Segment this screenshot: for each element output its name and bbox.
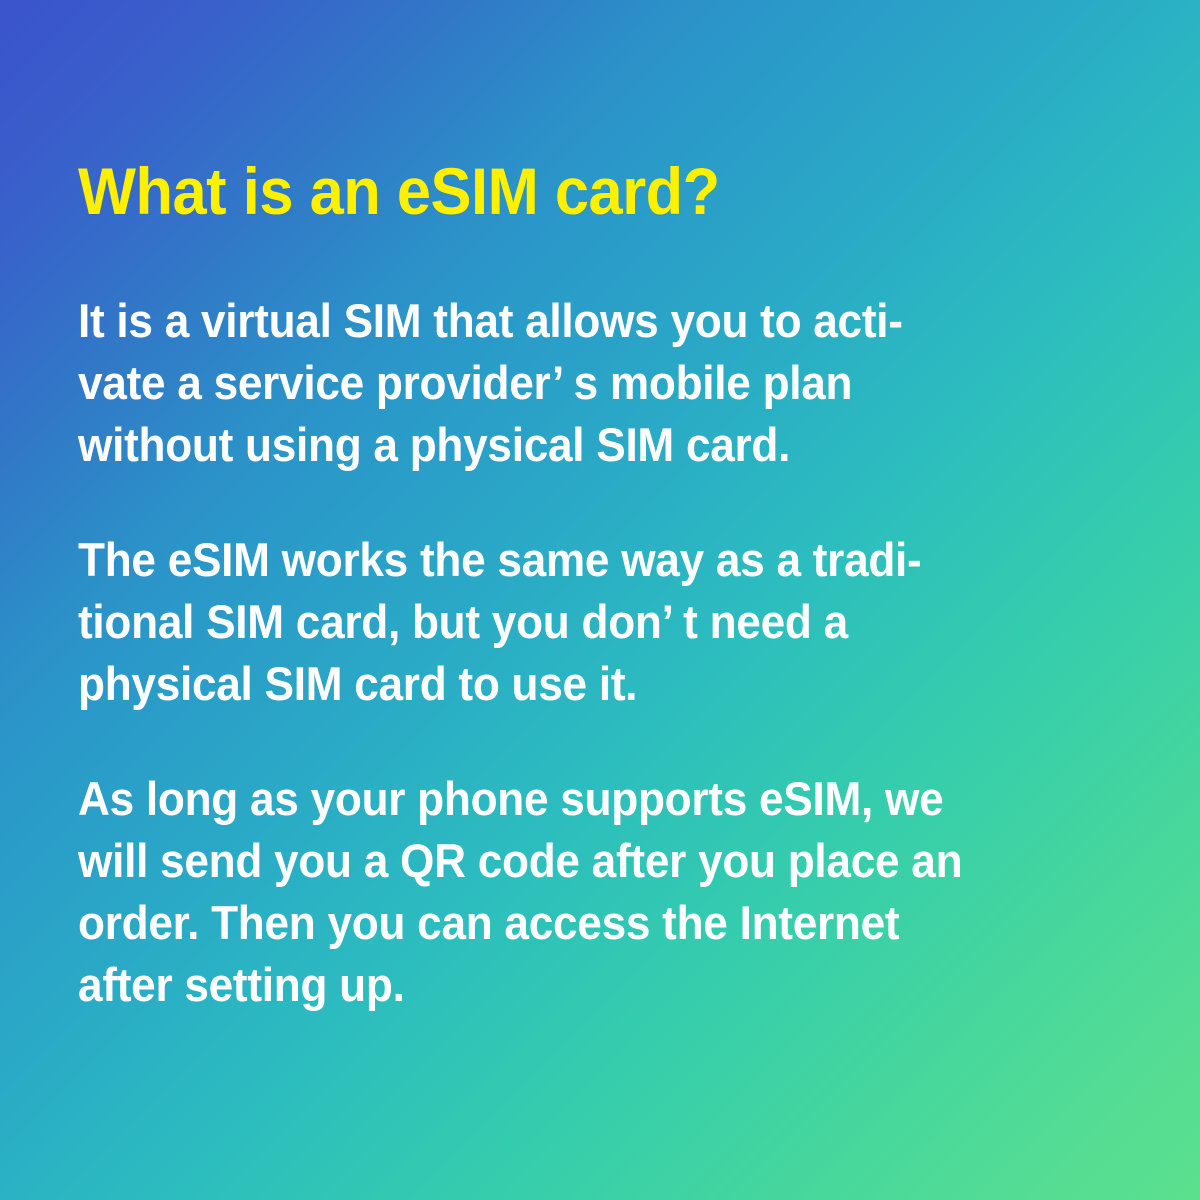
content-wrapper: What is an eSIM card? It is a virtual SI… [0, 0, 1200, 1016]
paragraph-line: tional SIM card, but you don’ t need a [78, 591, 1059, 653]
body-copy: It is a virtual SIM that allows you to a… [78, 290, 1122, 1016]
paragraph-line: vate a service provider’ s mobile plan [78, 352, 1059, 414]
paragraph-line: physical SIM card to use it. [78, 653, 1059, 715]
paragraph-line: It is a virtual SIM that allows you to a… [78, 290, 1059, 352]
paragraph-line: As long as your phone supports eSIM, we [78, 768, 1059, 830]
paragraph-delivery: As long as your phone supports eSIM, we … [78, 768, 1059, 1016]
infographic-card: What is an eSIM card? It is a virtual SI… [0, 0, 1200, 1200]
paragraph-line: after setting up. [78, 954, 1059, 1016]
page-title: What is an eSIM card? [78, 0, 1049, 224]
paragraph-line: will send you a QR code after you place … [78, 830, 1059, 892]
paragraph-definition: It is a virtual SIM that allows you to a… [78, 290, 1059, 476]
paragraph-line: The eSIM works the same way as a tradi- [78, 529, 1059, 591]
paragraph-line: without using a physical SIM card. [78, 414, 1059, 476]
paragraph-line: order. Then you can access the Internet [78, 892, 1059, 954]
paragraph-comparison: The eSIM works the same way as a tradi- … [78, 529, 1059, 715]
